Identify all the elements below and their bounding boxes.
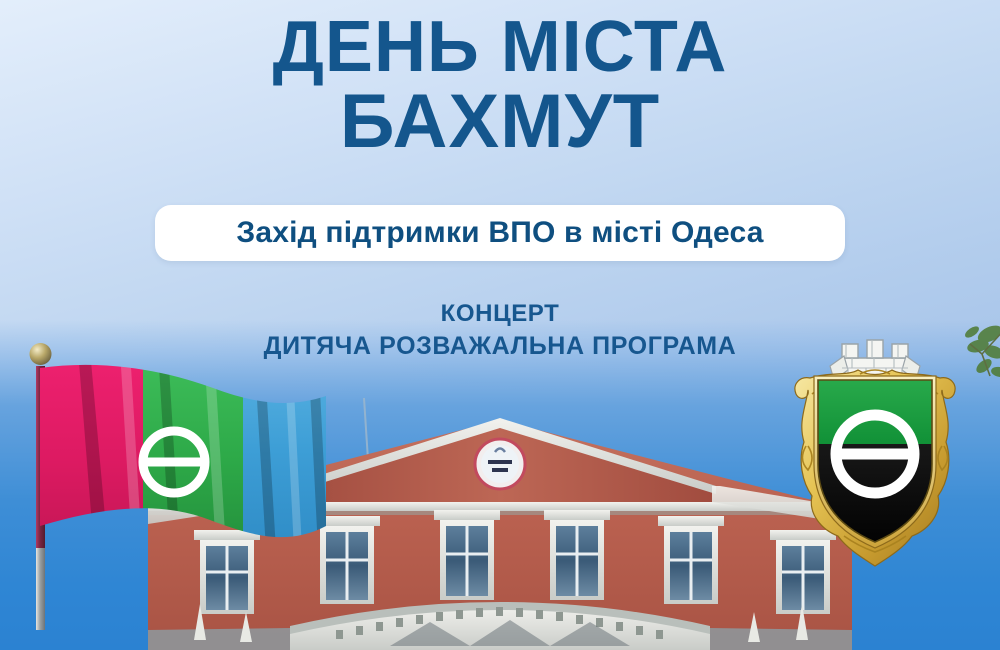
title-line-1: ДЕНЬ МІСТА [0,14,1000,82]
building-emblem-icon [475,439,525,489]
subtitle-line-1: КОНЦЕРТ [0,300,1000,329]
subtitle-line-2: ДИТЯЧА РОЗВАЖАЛЬНА ПРОГРАМА [0,331,1000,361]
poster-canvas: ДЕНЬ МІСТА БАХМУТ Захід підтримки ВПО в … [0,0,1000,650]
subtitle-block: КОНЦЕРТ ДИТЯЧА РОЗВАЖАЛЬНА ПРОГРАМА [0,300,1000,361]
coat-of-arms [782,336,968,572]
banner-text: Захід підтримки ВПО в місті Одеса [236,216,763,250]
banner-pill: Захід підтримки ВПО в місті Одеса [155,205,845,261]
page-title: ДЕНЬ МІСТА БАХМУТ [0,14,1000,157]
city-flag [8,330,338,630]
title-line-2: БАХМУТ [0,86,1000,157]
